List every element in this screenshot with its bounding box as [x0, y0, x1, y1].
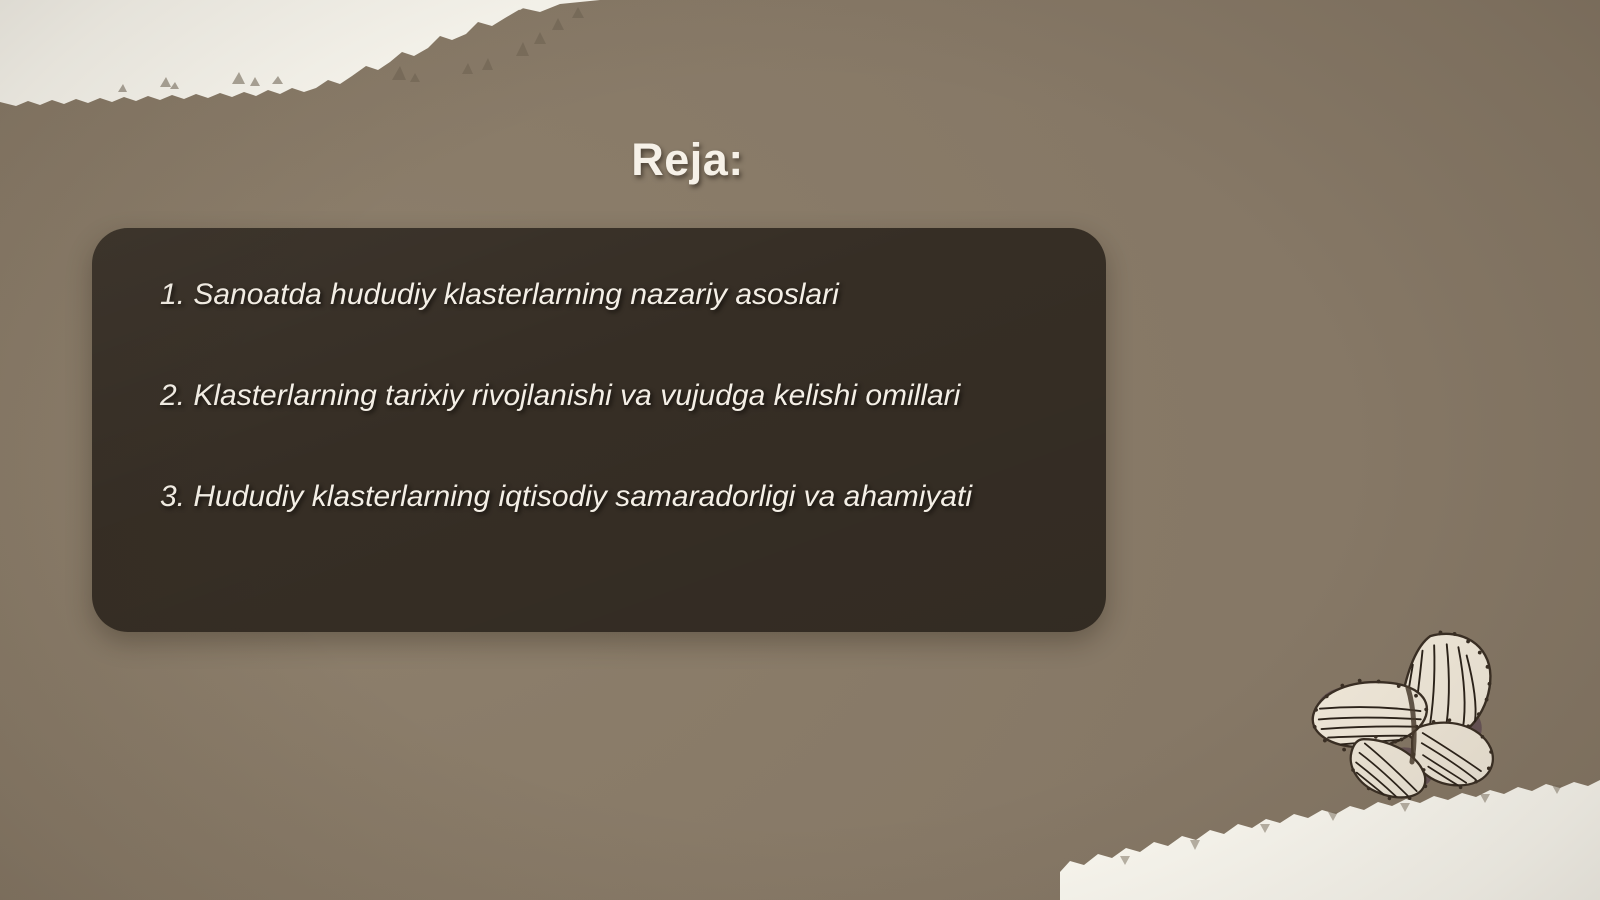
- list-item: 3. Hududiy klasterlarning iqtisodiy sama…: [160, 480, 1080, 513]
- slide-canvas: Reja: 1. Sanoatda hududiy klasterlarning…: [0, 0, 1600, 900]
- list-item: 2. Klasterlarning tarixiy rivojlanishi v…: [160, 379, 1080, 412]
- list-item: 1. Sanoatda hududiy klasterlarning nazar…: [160, 278, 1080, 311]
- page-title: Reja:: [0, 134, 1375, 186]
- plan-panel: 1. Sanoatda hududiy klasterlarning nazar…: [92, 228, 1106, 632]
- butterfly-icon: [1300, 618, 1515, 803]
- plan-list: 1. Sanoatda hududiy klasterlarning nazar…: [160, 278, 1080, 513]
- torn-paper-edge-top: [0, 0, 1600, 130]
